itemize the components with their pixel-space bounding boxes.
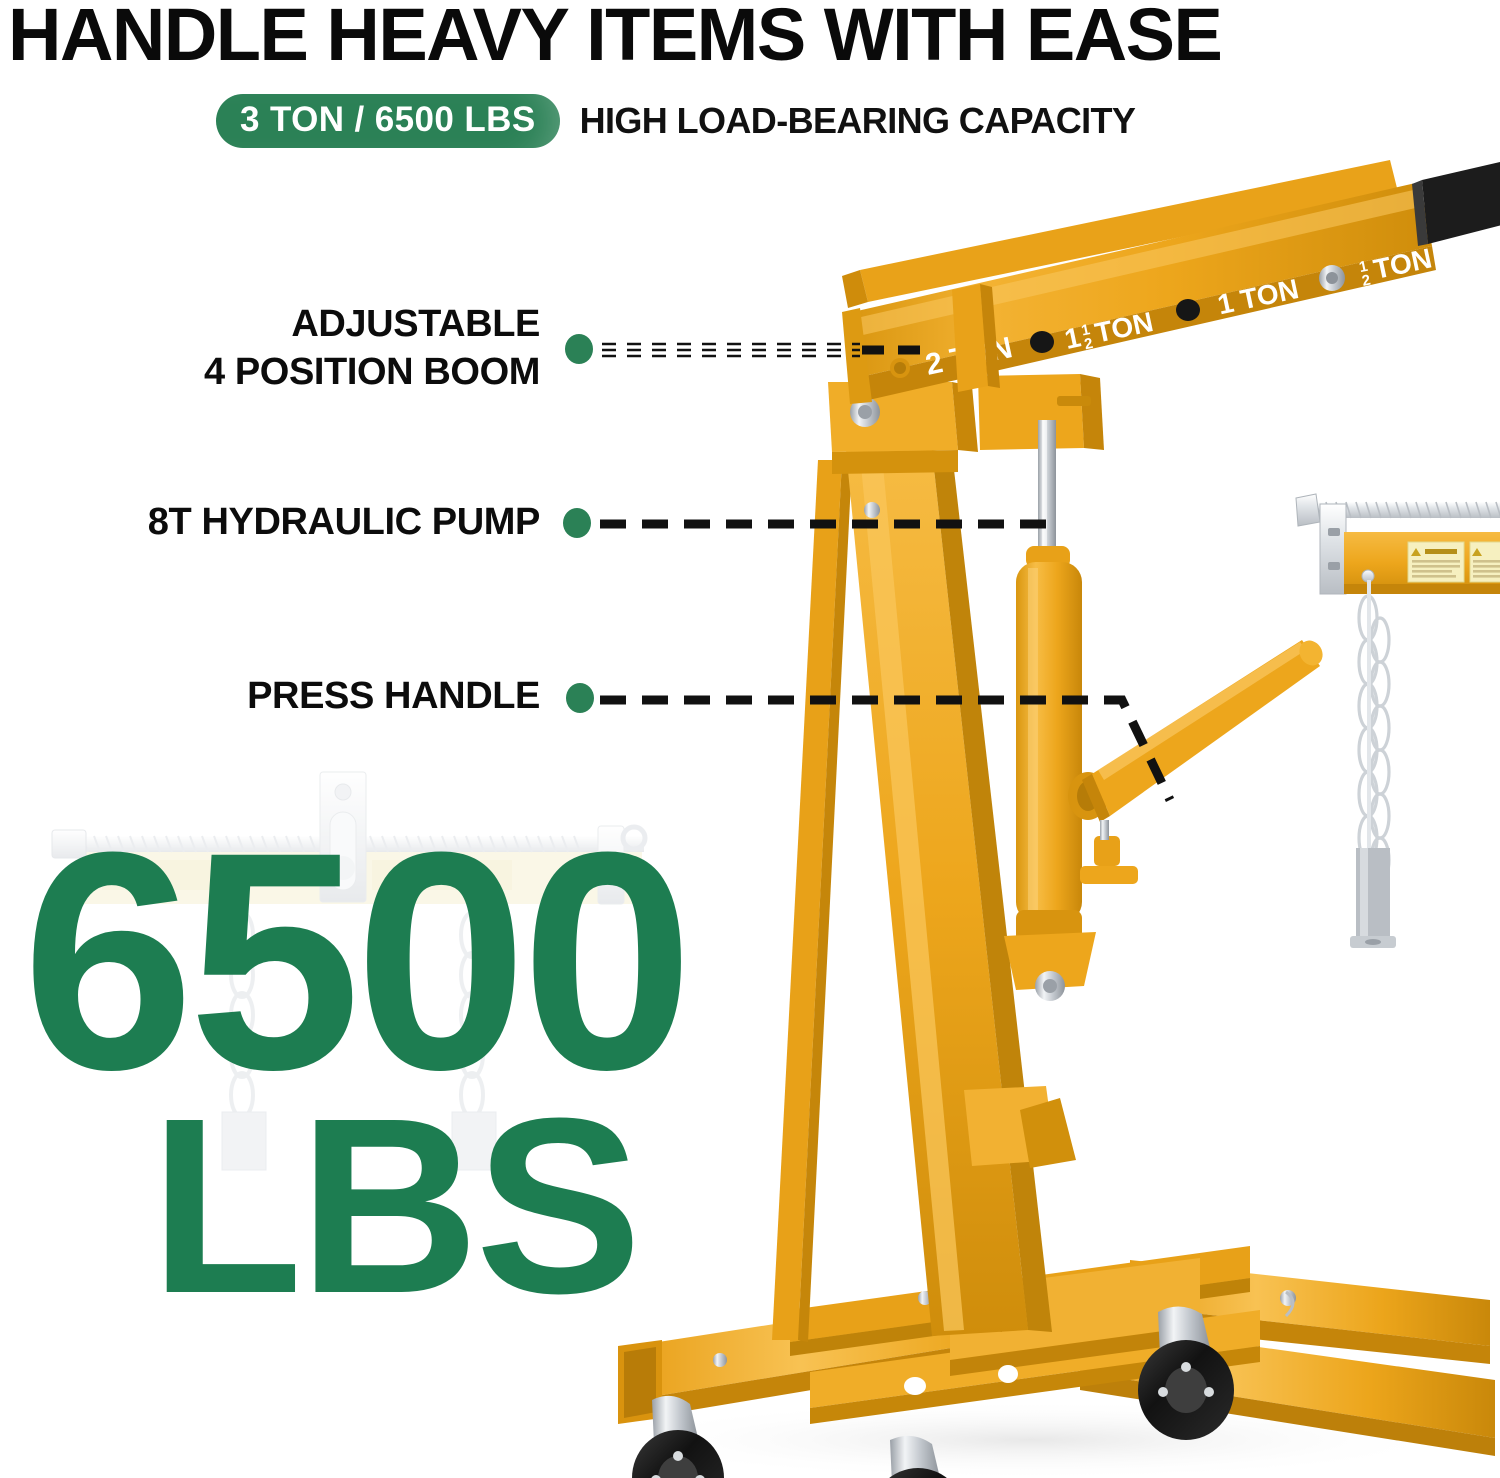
callout-press-handle: PRESS HANDLE — [60, 672, 540, 720]
capacity-badge: 3 TON / 6500 LBS — [216, 94, 560, 148]
callout-line-1: ADJUSTABLE — [60, 300, 540, 348]
callout-line-1: 8T HYDRAULIC PUMP — [20, 498, 540, 546]
boom-assembly: 2 TON 1 1 2 TON 1 TON 1 2 TON — [842, 160, 1500, 404]
callout-hydraulic-pump: 8T HYDRAULIC PUMP — [20, 498, 540, 546]
callout-line-1: PRESS HANDLE — [60, 672, 540, 720]
subtitle-row: 3 TON / 6500 LBS HIGH LOAD-BEARING CAPAC… — [216, 94, 1135, 148]
callout-adjustable-boom: ADJUSTABLE 4 POSITION BOOM — [60, 300, 540, 396]
infographic-canvas: HANDLE HEAVY ITEMS WITH EASE 3 TON / 650… — [0, 0, 1500, 1478]
subtitle-text: HIGH LOAD-BEARING CAPACITY — [580, 100, 1136, 142]
hydraulic-cylinder — [1004, 420, 1096, 1001]
page-title: HANDLE HEAVY ITEMS WITH EASE — [8, 0, 1488, 74]
callout-line-2: 4 POSITION BOOM — [60, 348, 540, 396]
load-leveler-illustration — [1268, 488, 1500, 968]
